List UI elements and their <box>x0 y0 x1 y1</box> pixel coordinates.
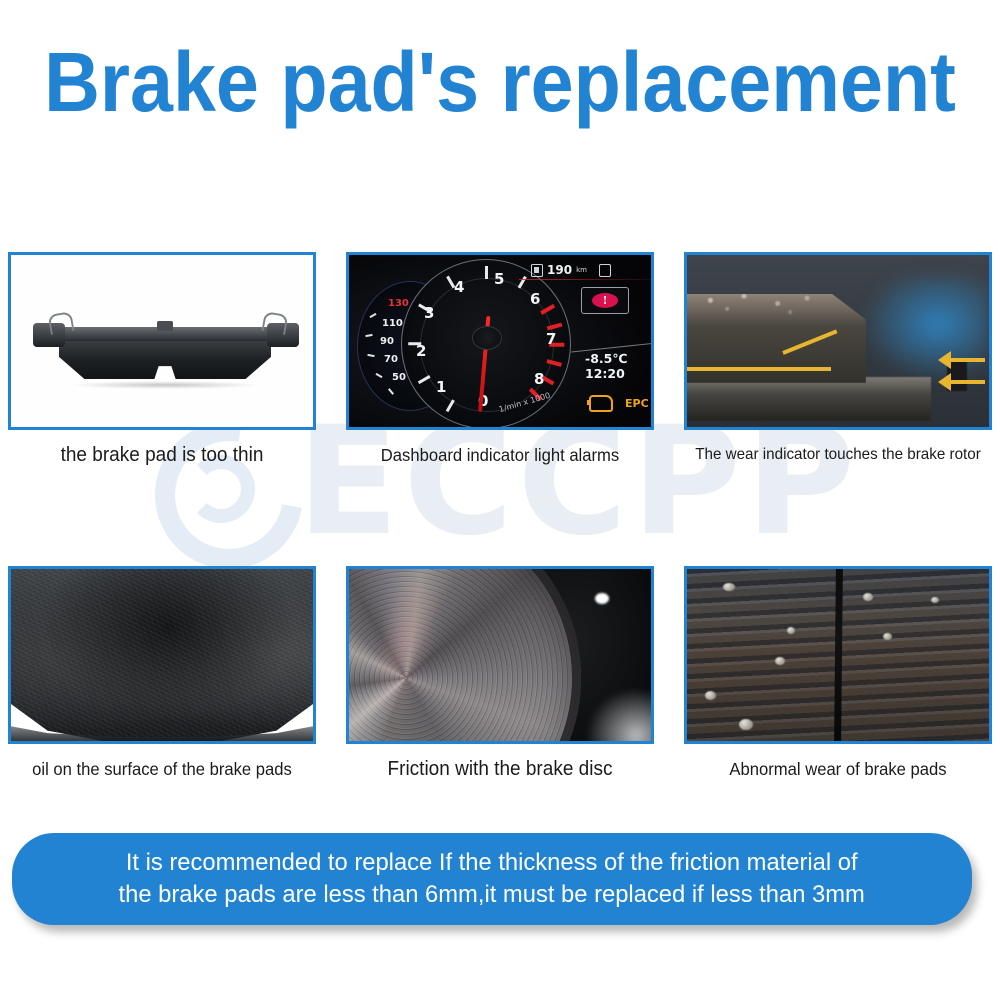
panel-row-1: the brake pad is too thin 130 110 90 70 … <box>8 252 992 467</box>
panel-friction-disc-image <box>346 566 654 744</box>
speedo-tick <box>388 388 394 395</box>
tach-number: 5 <box>494 270 504 288</box>
wear-arrow-icon <box>938 373 985 391</box>
debris-speck <box>863 593 873 601</box>
tach-tick <box>518 276 527 289</box>
oily-grain-texture <box>8 566 316 744</box>
wear-arrow-icon <box>938 351 985 369</box>
tachometer-dial: 0 1 2 3 4 5 6 7 8 1/min x 1000 <box>401 259 571 427</box>
recommendation-banner: It is recommended to replace If the thic… <box>12 833 972 925</box>
page-title: Brake pad's replacement <box>40 38 960 126</box>
panel-caption: Friction with the brake disc <box>354 757 647 781</box>
tach-number: 7 <box>546 330 556 348</box>
arrow-shaft <box>951 380 985 384</box>
panel-dashboard-image: 130 110 90 70 50 <box>346 252 654 430</box>
brake-disc-photo <box>349 569 651 741</box>
panel-caption: Abnormal wear of brake pads <box>692 757 985 781</box>
arrow-head <box>938 373 951 391</box>
wear-indicator-photo <box>687 255 989 427</box>
tach-number: 4 <box>454 278 464 296</box>
disc-light-reflection <box>595 593 609 604</box>
debris-speck <box>775 657 785 665</box>
disc-corner-highlight <box>587 689 651 741</box>
banner-line-1: It is recommended to replace If the thic… <box>119 847 865 879</box>
debris-speck <box>931 597 939 603</box>
panel-dashboard: 130 110 90 70 50 <box>346 252 654 467</box>
tach-number: 8 <box>534 370 544 388</box>
panel-caption: the brake pad is too thin <box>16 443 309 467</box>
lock-icon <box>599 264 611 277</box>
panel-too-thin: the brake pad is too thin <box>8 252 316 467</box>
tach-hub <box>472 326 502 350</box>
panel-abnormal-wear: Abnormal wear of brake pads <box>684 566 992 781</box>
oily-pad-photo <box>11 569 313 741</box>
rotor-surface <box>684 377 931 421</box>
speedo-number: 130 <box>388 298 409 309</box>
panel-oil-surface: oil on the surface of the brake pads <box>8 566 316 781</box>
pad-clip-left <box>47 311 74 335</box>
abnormal-wear-photo <box>687 569 989 741</box>
banner-text: It is recommended to replace If the thic… <box>119 847 865 911</box>
tach-number: 6 <box>530 290 540 308</box>
warning-indicator-box: ! <box>581 287 629 314</box>
debris-speck <box>723 583 735 591</box>
speedo-number: 50 <box>392 372 406 383</box>
pad-clip-right <box>261 311 288 335</box>
check-engine-icon <box>589 395 613 412</box>
tach-tick-redline <box>540 304 555 315</box>
arrow-shaft <box>951 358 985 362</box>
tach-tick <box>446 400 455 413</box>
outside-temperature: -8.5℃ <box>585 351 627 366</box>
panel-wear-indicator-image <box>684 252 992 430</box>
arrow-head <box>938 351 951 369</box>
panel-caption: The wear indicator touches the brake rot… <box>692 443 985 467</box>
brake-pad-photo <box>11 255 313 427</box>
debris-speck <box>787 627 795 634</box>
panel-caption: oil on the surface of the brake pads <box>16 757 309 781</box>
cluster-divider-line <box>519 279 651 280</box>
tach-number: 3 <box>424 304 434 322</box>
tach-tick <box>418 375 431 384</box>
pad-center-nub <box>157 321 173 331</box>
odometer-value: 190 <box>547 263 572 277</box>
debris-speck <box>883 633 892 640</box>
panel-row-2: oil on the surface of the brake pads Fri… <box>8 566 992 781</box>
amber-warning-lights: EPC <box>589 395 649 412</box>
speedo-tick <box>375 373 382 378</box>
speedo-tick <box>367 354 374 357</box>
odometer-readout: 190 km <box>531 263 611 277</box>
speedo-tick <box>369 313 376 318</box>
panel-caption: Dashboard indicator light alarms <box>354 443 647 467</box>
speedo-number: 110 <box>382 318 403 329</box>
panel-wear-indicator: The wear indicator touches the brake rot… <box>684 252 992 467</box>
instrument-cluster-photo: 130 110 90 70 50 <box>349 255 651 427</box>
oily-pad-body <box>8 566 316 744</box>
speedo-number: 70 <box>384 354 398 365</box>
clock-readout: 12:20 <box>585 366 627 381</box>
speedo-number: 90 <box>380 336 394 347</box>
info-readout: -8.5℃ 12:20 <box>585 351 627 381</box>
panel-oil-surface-image <box>8 566 316 744</box>
speedo-tick <box>365 334 372 337</box>
banner-line-2: the brake pads are less than 6mm,it must… <box>119 879 865 911</box>
tach-number: 1 <box>436 378 446 396</box>
warning-exclamation-icon: ! <box>592 293 618 308</box>
fuel-range-icon <box>531 264 543 277</box>
odometer-unit: km <box>576 266 587 274</box>
tach-number: 2 <box>416 342 426 360</box>
wear-indicator-line <box>684 367 831 371</box>
panel-friction-disc: Friction with the brake disc <box>346 566 654 781</box>
epc-warning-label: EPC <box>625 397 649 410</box>
debris-speck <box>705 691 716 700</box>
pad-shadow <box>69 381 261 389</box>
tach-tick <box>485 266 488 279</box>
panel-grid: the brake pad is too thin 130 110 90 70 … <box>8 252 992 781</box>
panel-abnormal-wear-image <box>684 566 992 744</box>
panel-too-thin-image <box>8 252 316 430</box>
debris-speck <box>739 719 753 730</box>
